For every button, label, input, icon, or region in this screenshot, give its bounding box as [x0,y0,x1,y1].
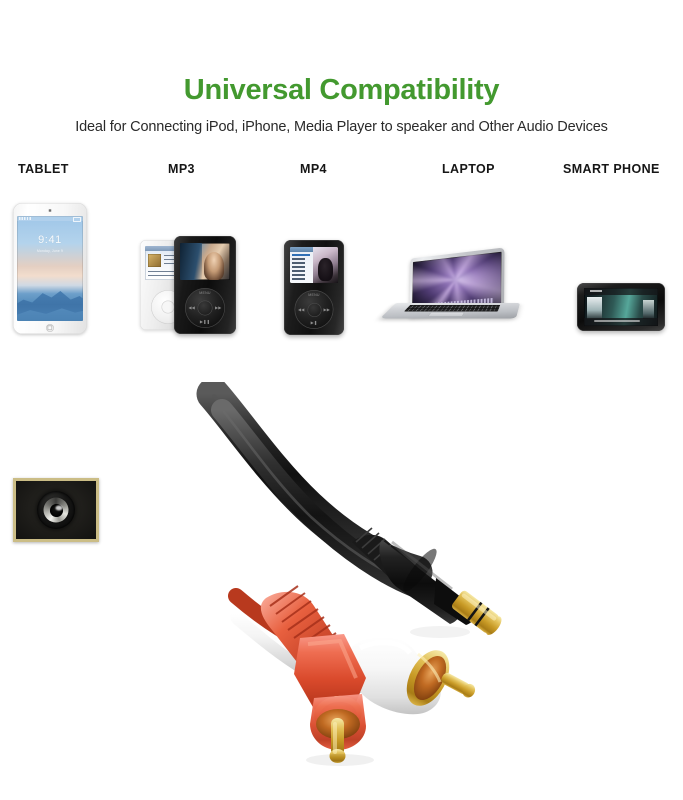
prev-button-icon: ◀◀ [298,307,304,311]
ipod-nano-icon: MENU ◀◀ ▶▶ ▶❚ [284,240,344,335]
menu-item [292,274,305,276]
play-pause-icon: ▶❚❚ [200,320,210,324]
phone-screen [584,288,658,326]
laptop-base [380,303,520,318]
product-compatibility-infographic: Universal Compatibility Ideal for Connec… [0,0,683,800]
prev-button-icon: ◀◀ [189,306,195,310]
ipod-classic-icon: MENU ◀◀ ▶▶ ▶❚❚ [140,236,236,334]
video-subject-left [587,297,602,319]
video-subject [204,252,224,280]
page-title: Universal Compatibility [0,74,683,107]
device-label-mp4: MP4 [300,162,327,176]
menu-item [292,278,305,280]
tablet-screen: 9:41 Monday, June 9 [17,216,83,321]
connector-3.5mm-stereo-plug [352,528,504,637]
menu-button-icon: MENU [308,294,319,298]
lockscreen-time: 9:41 [17,234,83,246]
screen-titlebar [290,247,313,252]
next-button-icon: ▶▶ [324,307,330,311]
battery-icon [73,217,81,222]
video-shadow [180,243,202,280]
device-label-smart-phone: SMART PHONE [563,162,660,176]
nano-menu-pane [290,247,313,283]
status-bar [17,216,83,221]
connector-rca-red [261,586,366,763]
video-subject-right [643,300,653,319]
device-label-mp3: MP3 [168,162,195,176]
menu-item [292,262,305,264]
nano-screen [290,247,338,283]
menu-item [292,266,305,268]
menu-item-selected [292,254,310,256]
tablet-ipad-icon: 9:41 Monday, June 9 [13,203,87,334]
shadow-plug [410,626,470,638]
video-top-bar [584,288,658,295]
device-label-tablet: TABLET [18,162,69,176]
rca-red-pin-highlight [333,722,337,754]
shadow-red-connector [306,754,374,766]
macbook-pro-icon [396,247,520,335]
rca-white-pin-group [439,670,477,699]
trackpad [428,312,465,316]
signal-dots-icon [19,217,31,219]
connector-rca-white [348,637,477,714]
device-label-laptop: LAPTOP [442,162,495,176]
nano-cover-art-pane [313,247,338,283]
page-subtitle: Ideal for Connecting iPod, iPhone, Media… [0,119,683,135]
menu-item [292,258,305,260]
front-camera-icon [49,209,52,212]
click-wheel-nano: MENU ◀◀ ▶▶ ▶❚ [295,290,334,329]
cable-illustration [0,382,683,800]
play-pause-icon: ▶❚ [311,321,318,325]
menu-item [292,270,305,272]
lockscreen-date: Monday, June 9 [17,249,83,253]
ipod-classic-black: MENU ◀◀ ▶▶ ▶❚❚ [174,236,236,334]
rca-to-3.5mm-audio-cable-icon [0,382,683,800]
keyboard [404,305,500,312]
ipod-black-screen [180,243,230,280]
iphone-landscape-icon [577,283,665,331]
home-button-icon [46,324,54,332]
click-wheel-black: MENU ◀◀ ▶▶ ▶❚❚ [185,288,225,328]
album-art-thumb [148,254,161,267]
video-bottom-bar [584,318,658,326]
menu-button-icon: MENU [199,292,210,296]
next-button-icon: ▶▶ [215,306,221,310]
